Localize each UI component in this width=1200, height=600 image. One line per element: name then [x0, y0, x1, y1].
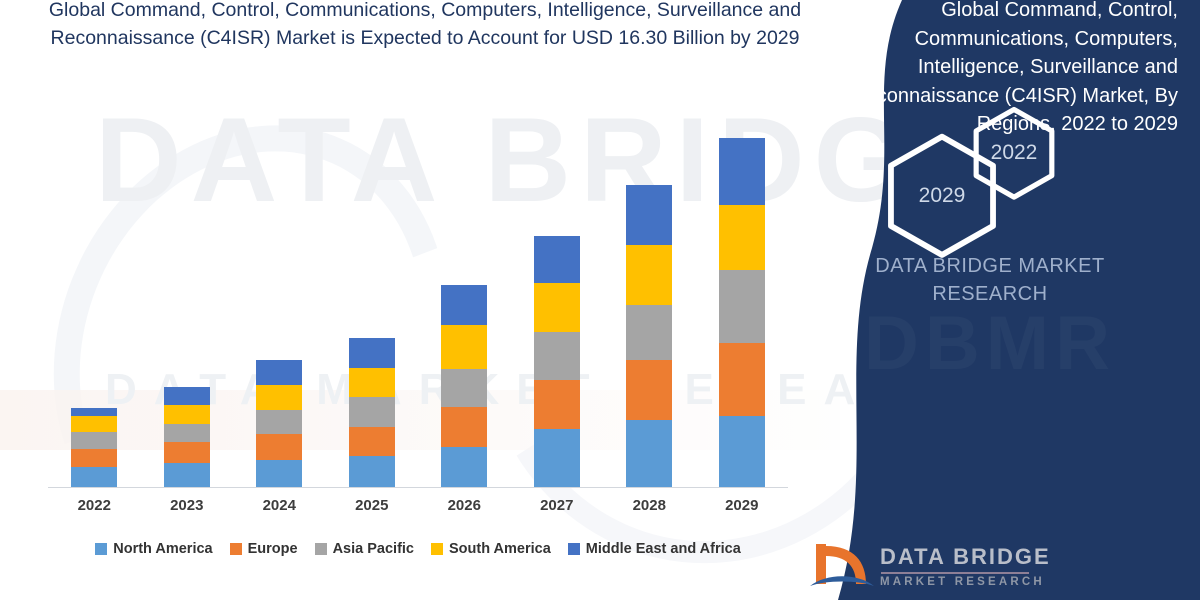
bar-segment [256, 385, 302, 410]
bar-segment [719, 416, 765, 487]
x-axis-tick-label: 2023 [142, 497, 232, 514]
bar-segment [349, 427, 395, 456]
bar-stack [164, 387, 210, 487]
legend-label: North America [113, 541, 212, 557]
bar-segment [441, 447, 487, 487]
bar-stack [349, 338, 395, 487]
bar-segment [256, 434, 302, 460]
legend-swatch [95, 543, 107, 555]
bar-segment [164, 424, 210, 442]
stacked-bar-chart: 20222023202420252026202720282029 North A… [0, 0, 820, 600]
bar-segment [626, 245, 672, 305]
bar-segment [256, 360, 302, 385]
bar-stack [441, 285, 487, 487]
bar-segment [164, 387, 210, 405]
bar-segment [164, 442, 210, 463]
legend-item[interactable]: South America [431, 541, 551, 557]
bar-segment [626, 185, 672, 245]
bar-segment [626, 420, 672, 487]
legend-label: Europe [248, 541, 298, 557]
legend-label: Middle East and Africa [586, 541, 741, 557]
bar-segment [256, 460, 302, 487]
chart-legend: North AmericaEuropeAsia PacificSouth Ame… [48, 541, 788, 557]
x-axis-tick-label: 2027 [512, 497, 602, 514]
hexagon-start-year-label: 2022 [991, 141, 1038, 165]
bar-stack [71, 408, 117, 487]
x-axis-tick-label: 2024 [234, 497, 324, 514]
bar-segment [534, 380, 580, 429]
bar-column [234, 360, 324, 487]
logo-divider [881, 572, 1029, 574]
bar-column [512, 236, 602, 487]
bar-segment [71, 432, 117, 449]
bar-segment [534, 332, 580, 380]
bar-column [697, 138, 787, 487]
legend-swatch [568, 543, 580, 555]
logo-tagline: MARKET RESEARCH [880, 576, 1051, 588]
panel-brand-line2: RESEARCH [780, 280, 1200, 308]
bar-segment [164, 405, 210, 424]
bar-segment [256, 410, 302, 434]
bar-column [49, 408, 139, 487]
bar-segment [534, 429, 580, 487]
bar-segment [719, 205, 765, 270]
infographic-canvas: DATA BRIDGE DATA MARKET RESEARCH Global … [0, 0, 1200, 600]
hexagon-end-year-label: 2029 [919, 184, 966, 208]
bar-segment [626, 305, 672, 360]
bar-stack [534, 236, 580, 487]
bar-segment [719, 343, 765, 416]
bar-segment [719, 138, 765, 205]
bar-segment [349, 368, 395, 397]
bar-segment [534, 236, 580, 283]
bar-segment [349, 338, 395, 368]
bar-segment [349, 397, 395, 427]
legend-item[interactable]: North America [95, 541, 212, 557]
legend-swatch [431, 543, 443, 555]
legend-item[interactable]: Middle East and Africa [568, 541, 741, 557]
bar-column [419, 285, 509, 487]
bar-stack [719, 138, 765, 487]
bar-segment [626, 360, 672, 420]
logo-text: DATA BRIDGE MARKET RESEARCH [880, 544, 1051, 588]
x-axis-tick-label: 2022 [49, 497, 139, 514]
legend-swatch [315, 543, 327, 555]
bar-segment [441, 285, 487, 325]
x-axis-tick-label: 2029 [697, 497, 787, 514]
bar-segment [71, 416, 117, 432]
company-logo: DATA BRIDGE MARKET RESEARCH [810, 536, 1170, 598]
x-axis-tick-label: 2025 [327, 497, 417, 514]
bar-column [604, 185, 694, 487]
hexagon-start-year: 2022 [971, 106, 1057, 200]
bar-segment [71, 467, 117, 487]
x-axis-tick-label: 2028 [604, 497, 694, 514]
panel-watermark: DBMR [780, 300, 1200, 387]
bar-column [327, 338, 417, 487]
bar-segment [71, 408, 117, 416]
bar-column [142, 387, 232, 487]
bar-segment [71, 449, 117, 467]
bar-stack [256, 360, 302, 487]
legend-label: South America [449, 541, 551, 557]
x-axis-line [48, 487, 788, 488]
bridge-logo-icon [810, 540, 874, 592]
bar-segment [164, 463, 210, 487]
logo-name: DATA BRIDGE [880, 544, 1051, 570]
legend-swatch [230, 543, 242, 555]
bar-group [48, 110, 788, 487]
panel-brand-line1: DATA BRIDGE MARKET [780, 252, 1200, 280]
x-axis-labels: 20222023202420252026202720282029 [48, 497, 788, 514]
legend-item[interactable]: Europe [230, 541, 298, 557]
bar-segment [534, 283, 580, 332]
legend-label: Asia Pacific [333, 541, 414, 557]
bar-segment [441, 325, 487, 369]
bar-segment [349, 456, 395, 487]
bar-stack [626, 185, 672, 487]
legend-item[interactable]: Asia Pacific [315, 541, 414, 557]
right-info-panel: DBMR Global Command, Control, Communicat… [780, 0, 1200, 600]
bar-segment [441, 369, 487, 407]
bar-segment [719, 270, 765, 343]
bar-segment [441, 407, 487, 447]
panel-brand: DATA BRIDGE MARKET RESEARCH [780, 252, 1200, 308]
x-axis-tick-label: 2026 [419, 497, 509, 514]
